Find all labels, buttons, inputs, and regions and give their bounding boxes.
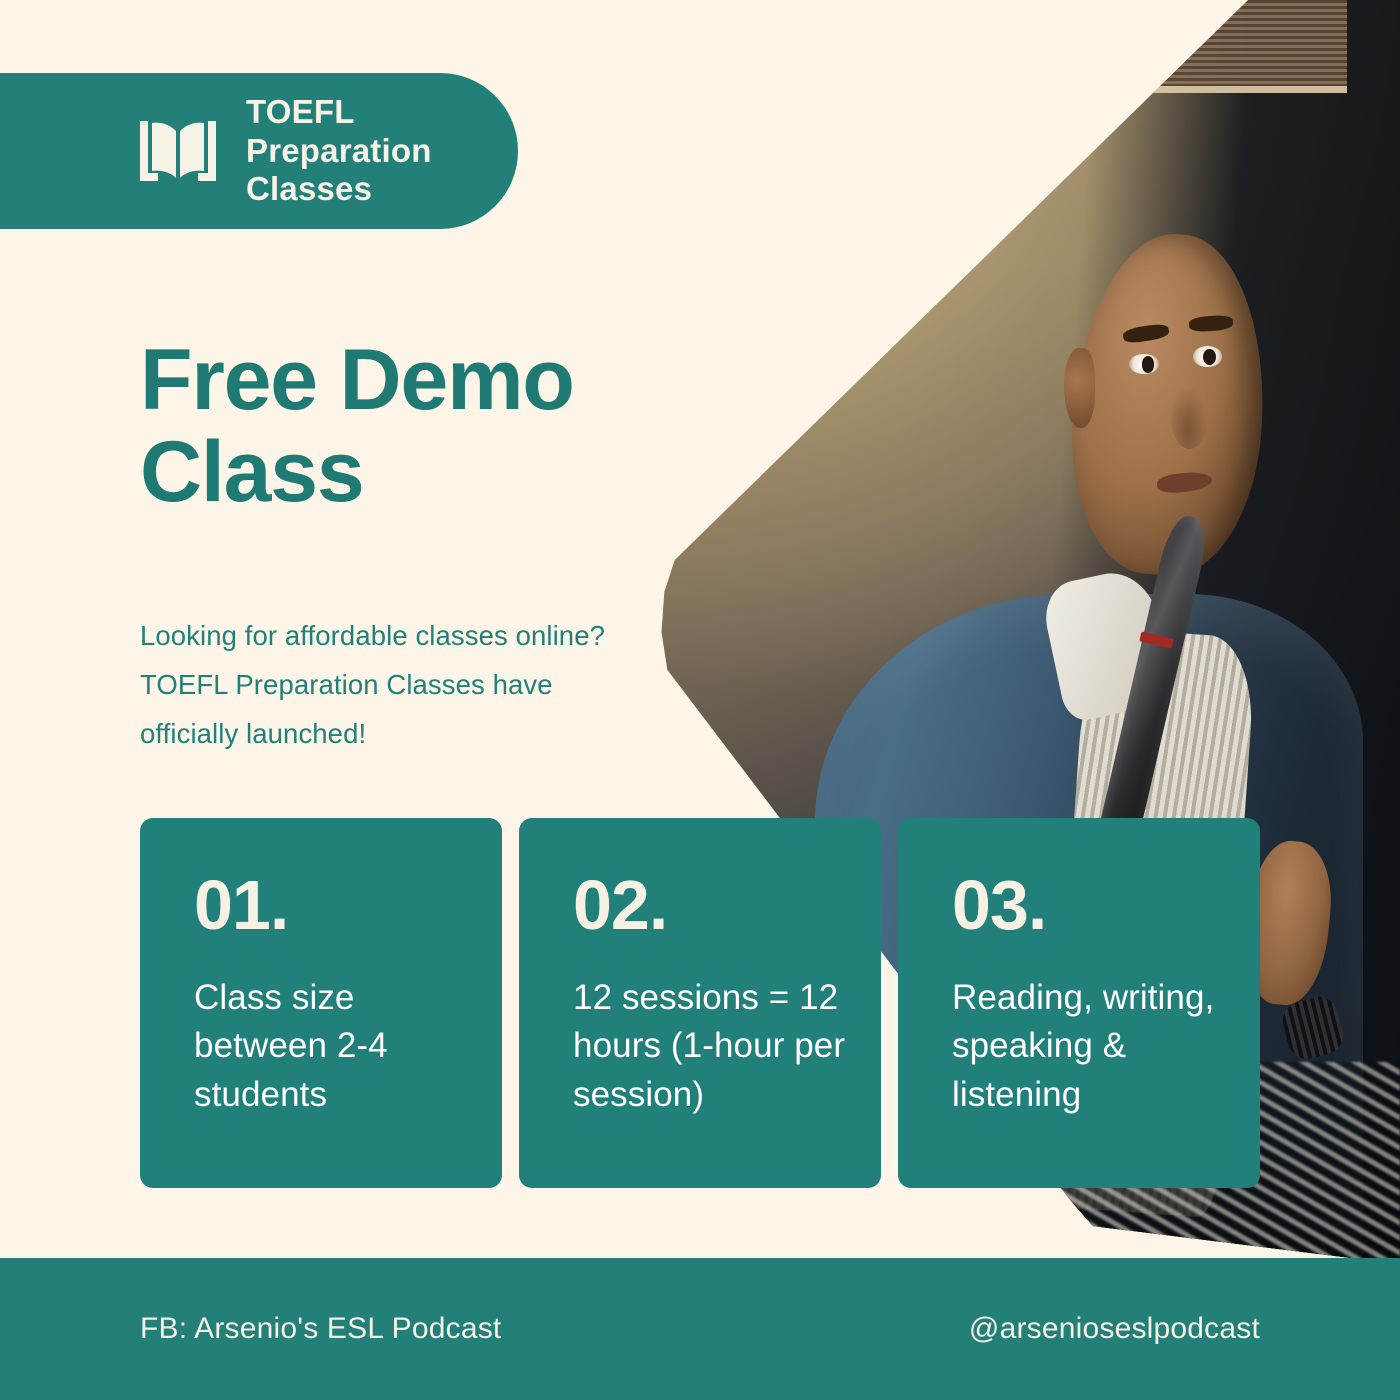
poster-canvas: TOEFL Preparation Classes Free Demo Clas…	[0, 0, 1400, 1400]
intro-paragraph: Looking for affordable classes online? T…	[140, 612, 610, 759]
pupil-left	[1142, 356, 1155, 372]
feature-card-text: Class size between 2-4 students	[194, 974, 502, 1119]
open-book-icon	[132, 113, 224, 189]
footer-handle: @arsenioseslpodcast	[969, 1312, 1260, 1346]
footer-facebook: FB: Arsenio's ESL Podcast	[140, 1312, 501, 1346]
speaker-ear	[1064, 348, 1095, 429]
speaker-head	[1063, 228, 1275, 582]
feature-card-number: 03.	[952, 870, 1260, 940]
ceiling-vent	[1000, 0, 1346, 93]
feature-card-number: 01.	[194, 870, 502, 940]
feature-card-list: 01. Class size between 2-4 students 02. …	[140, 818, 1260, 1188]
page-title: Free Demo Class	[140, 334, 700, 518]
feature-card-text: 12 sessions = 12 hours (1-hour per sessi…	[573, 974, 881, 1119]
feature-card-03: 03. Reading, writing, speaking & listeni…	[898, 818, 1260, 1188]
logo-badge: TOEFL Preparation Classes	[0, 73, 518, 229]
nose	[1171, 386, 1208, 449]
feature-card-text: Reading, writing, speaking & listening	[952, 974, 1260, 1119]
feature-card-01: 01. Class size between 2-4 students	[140, 818, 502, 1188]
feature-card-02: 02. 12 sessions = 12 hours (1-hour per s…	[519, 818, 881, 1188]
footer-bar: FB: Arsenio's ESL Podcast @arsenioseslpo…	[0, 1258, 1400, 1400]
logo-text: TOEFL Preparation Classes	[246, 93, 432, 209]
pupil-right	[1203, 349, 1216, 365]
feature-card-number: 02.	[573, 870, 881, 940]
